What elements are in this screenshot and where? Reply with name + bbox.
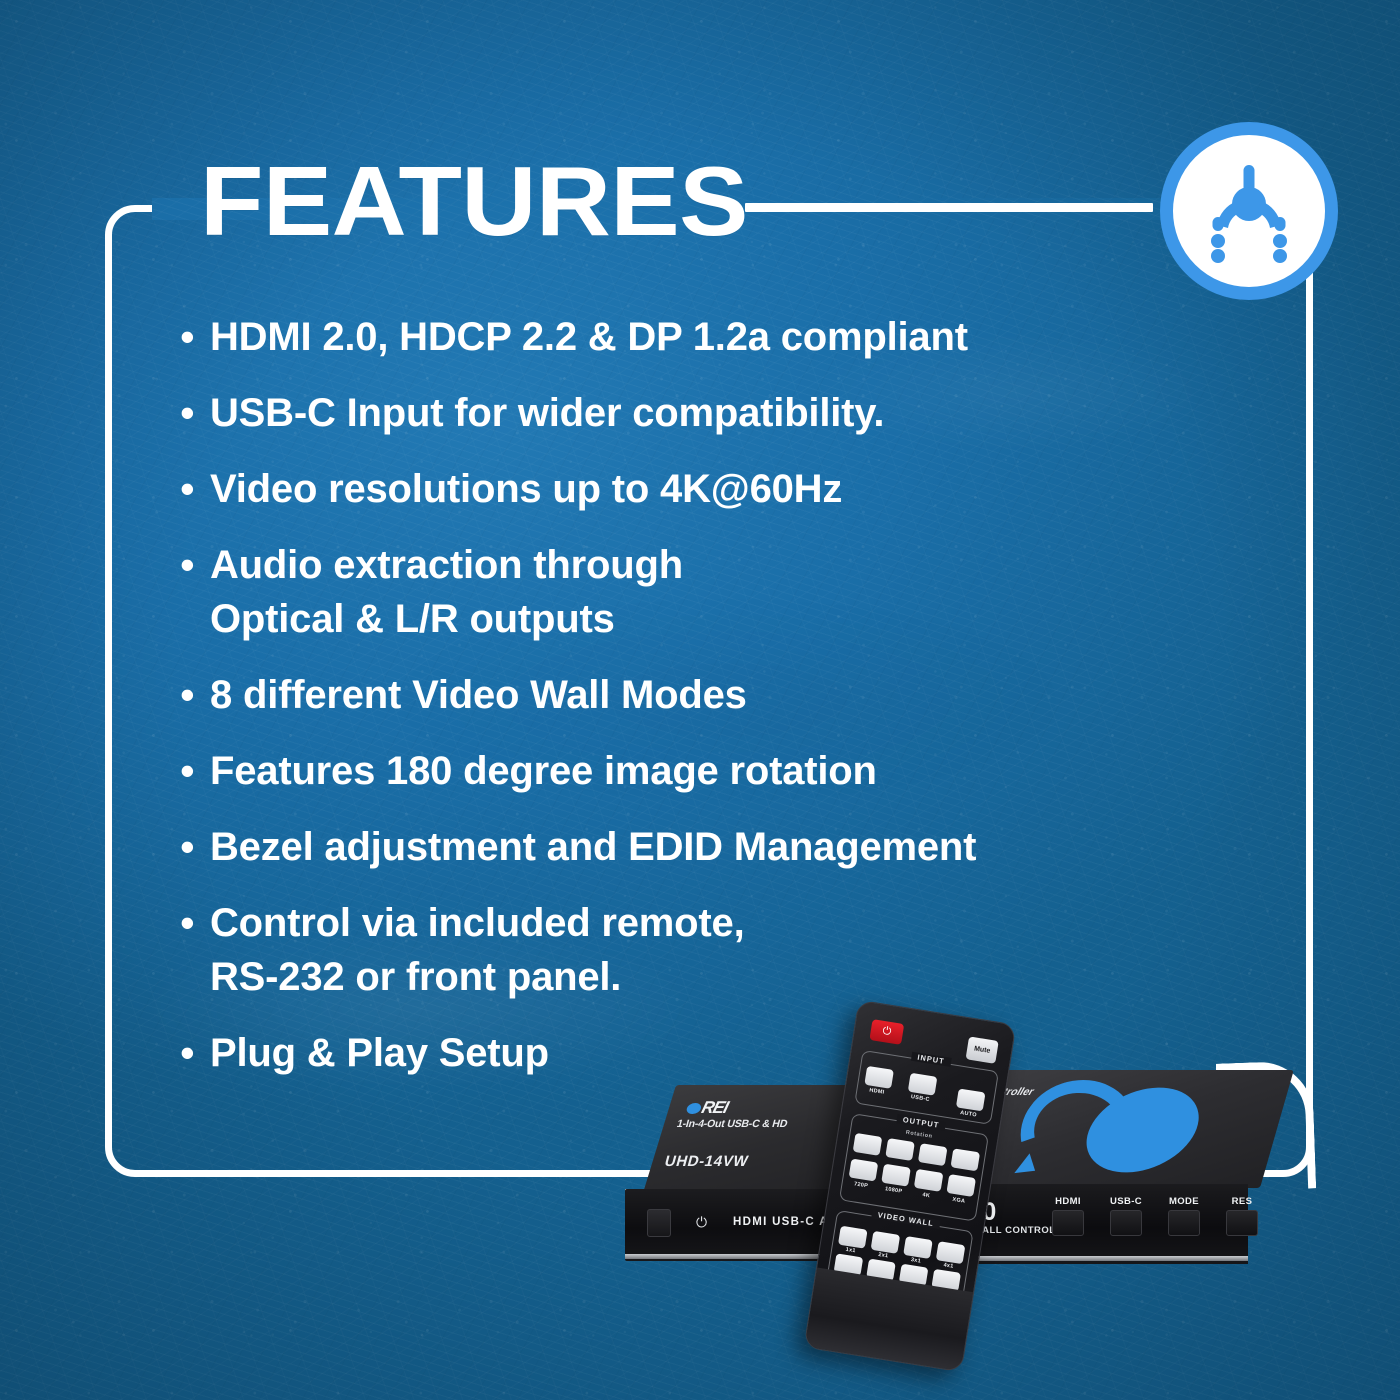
feature-text: USB-C Input for wider compatibility. [210,386,884,440]
feature-list: • HDMI 2.0, HDCP 2.2 & DP 1.2a compliant… [180,310,1290,1102]
power-symbol-icon: ⏻ [881,1025,892,1039]
front-button-mode[interactable]: MODE [1164,1196,1204,1236]
feature-text: Plug & Play Setup [210,1026,549,1080]
power-button[interactable] [647,1209,671,1237]
front-button-key[interactable] [1110,1210,1142,1236]
front-button-hdmi[interactable]: HDMI [1048,1196,1088,1236]
front-button-label: HDMI [1048,1196,1088,1207]
front-button-key[interactable] [1226,1210,1258,1236]
product-photo: troller 4K60 VIDEO WALL CONTROLLER HDMI … [600,1000,1340,1400]
bullet-icon: • [180,744,210,798]
signal-distribution-icon [1160,122,1338,300]
remote-key-hdmi[interactable] [864,1066,894,1089]
brand-logo: REI [684,1098,730,1118]
feature-item: • HDMI 2.0, HDCP 2.2 & DP 1.2a compliant [180,310,1290,364]
feature-item: • Video resolutions up to 4K@60Hz [180,462,1290,516]
remote-key-rotation-4[interactable] [950,1148,980,1171]
remote-key-xga[interactable] [946,1174,976,1197]
front-button-res[interactable]: RES [1222,1196,1262,1236]
feature-text: Features 180 degree image rotation [210,744,877,798]
feature-text: Video resolutions up to 4K@60Hz [210,462,842,516]
page-title: FEATURES [200,152,748,250]
front-button-label: RES [1222,1196,1262,1207]
front-button-usbc[interactable]: USB-C [1106,1196,1146,1236]
front-button-label: MODE [1164,1196,1204,1207]
brand-logo-text: REI [700,1098,730,1117]
front-button-label: USB-C [1106,1196,1146,1207]
feature-item: • Control via included remote, RS-232 or… [180,896,1290,1004]
feature-item: • Audio extraction through Optical & L/R… [180,538,1290,646]
remote-key-4k[interactable] [914,1169,944,1192]
bullet-icon: • [180,1026,210,1080]
remote-key-720p[interactable] [849,1159,879,1182]
unit-tagline: 1-In-4-Out USB-C & HD [675,1118,788,1130]
remote-key-rotation-1[interactable] [853,1133,883,1156]
feature-text: Control via included remote, RS-232 or f… [210,896,744,1004]
bullet-icon: • [180,386,210,440]
feature-item: • Features 180 degree image rotation [180,744,1290,798]
feature-text: 8 different Video Wall Modes [210,668,747,722]
remote-key-rotation-3[interactable] [918,1143,948,1166]
front-button-key[interactable] [1168,1210,1200,1236]
feature-item: • USB-C Input for wider compatibility. [180,386,1290,440]
poster-canvas: FEATURES [0,0,1400,1400]
remote-key-label: 720P [847,1180,875,1190]
feature-item: • Bezel adjustment and EDID Management [180,820,1290,874]
bullet-icon: • [180,462,210,516]
remote-power-button[interactable]: ⏻ [869,1019,904,1045]
ir-remote-control: ⏻ Mute INPUT HDMI USB-C AUTO OUTPUT Rota… [803,1000,1016,1373]
title-divider-rule [745,203,1153,212]
feature-text: HDMI 2.0, HDCP 2.2 & DP 1.2a compliant [210,310,968,364]
feature-text: Audio extraction through Optical & L/R o… [210,538,683,646]
remote-key-auto[interactable] [956,1088,986,1111]
bullet-icon: • [180,538,210,592]
power-symbol-icon: ⏻ [696,1215,710,1229]
bullet-icon: • [180,668,210,722]
feature-text: Bezel adjustment and EDID Management [210,820,976,874]
remote-section-title: INPUT [911,1052,951,1067]
remote-key-label: 4K [912,1191,940,1201]
remote-section-subtitle: Rotation [905,1130,933,1140]
bullet-icon: • [180,310,210,364]
remote-key-1080p[interactable] [881,1164,911,1187]
remote-input-section: INPUT HDMI USB-C AUTO [854,1050,999,1125]
bullet-icon: • [180,896,210,950]
unit-model-number: UHD-14VW [663,1153,751,1170]
front-button-row: HDMI USB-C MODE RES [1048,1196,1262,1236]
remote-key-rotation-2[interactable] [885,1138,915,1161]
remote-key-usbc[interactable] [908,1073,938,1096]
feature-item: • 8 different Video Wall Modes [180,668,1290,722]
front-button-key[interactable] [1052,1210,1084,1236]
remote-key-label: XGA [945,1196,973,1206]
remote-output-section: OUTPUT Rotation 720P 1080P 4K XGA [839,1113,989,1222]
remote-mute-button[interactable]: Mute [966,1036,999,1063]
remote-key-label: 1080P [878,1185,910,1196]
bullet-icon: • [180,820,210,874]
